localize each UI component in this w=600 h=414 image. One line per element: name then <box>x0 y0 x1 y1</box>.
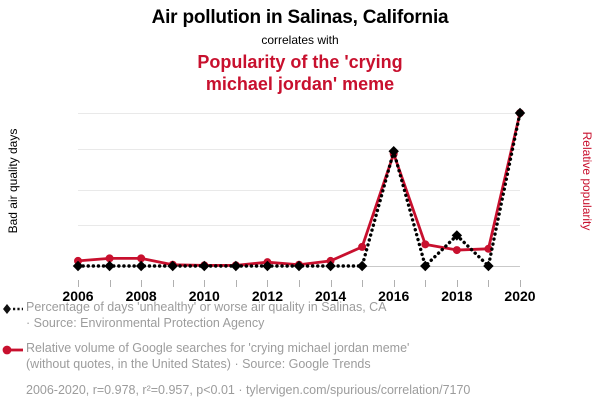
data-point-marker-air-quality <box>294 261 304 271</box>
data-point-marker-air-quality <box>104 261 114 271</box>
data-point-marker-air-quality <box>515 108 525 118</box>
data-point-marker-air-quality <box>231 261 241 271</box>
chart-page: Air pollution in Salinas, California cor… <box>0 0 600 414</box>
data-point-marker-air-quality <box>357 261 367 271</box>
data-point-marker-air-quality <box>420 261 430 271</box>
x-axis-tick-mark <box>425 280 426 287</box>
series-line-air-quality <box>78 113 520 266</box>
legend-label-air-quality-line1: Percentage of days 'unhealthy' or worse … <box>26 300 387 314</box>
x-axis-tick-mark <box>362 280 363 287</box>
black-diamond-dotted-line-icon <box>2 303 24 315</box>
data-point-marker-air-quality <box>136 261 146 271</box>
legend-label-meme-line2: (without quotes, in the United States) ·… <box>26 357 371 371</box>
data-point-marker-meme <box>421 240 429 248</box>
series-line-meme <box>78 113 520 265</box>
x-axis-tick-mark <box>520 280 521 287</box>
page-title: Air pollution in Salinas, California <box>0 6 600 30</box>
x-axis-tick-mark <box>457 280 458 287</box>
red-circle-solid-line-icon <box>2 344 24 356</box>
page-subtitle-line2: michael jordan' meme <box>0 73 600 95</box>
legend-item-air-quality: Percentage of days 'unhealthy' or worse … <box>0 300 600 331</box>
page-subtitle: Popularity of the 'crying michael jordan… <box>0 51 600 95</box>
y-axis-right-title: Relative popularity <box>580 96 594 266</box>
data-point-marker-air-quality <box>168 261 178 271</box>
x-axis-tick-mark <box>141 280 142 287</box>
x-axis-tick-mark <box>173 280 174 287</box>
title-connector: correlates with <box>0 31 600 49</box>
x-axis-tick-mark <box>267 280 268 287</box>
x-axis-tick-mark <box>331 280 332 287</box>
chart-area: Bad air quality days Relative popularity… <box>0 100 600 300</box>
x-axis-tick-mark <box>394 280 395 287</box>
x-axis-tick-mark <box>299 280 300 287</box>
series-layer <box>78 113 520 266</box>
y-axis-left-title: Bad air quality days <box>6 96 20 266</box>
page-subtitle-line1: Popularity of the 'crying <box>0 51 600 73</box>
title-block: Air pollution in Salinas, California cor… <box>0 0 600 95</box>
plot-region: 3.0%2.3%1.5%0.8%0%1296302006200820102012… <box>78 113 520 266</box>
data-point-marker-air-quality <box>483 261 493 271</box>
legend-label-air-quality-line2: · Source: Environmental Protection Agenc… <box>26 316 264 330</box>
data-point-marker-air-quality <box>199 261 209 271</box>
x-axis-tick-mark <box>236 280 237 287</box>
x-axis-tick-mark <box>488 280 489 287</box>
x-axis-tick-mark <box>78 280 79 287</box>
legend: Percentage of days 'unhealthy' or worse … <box>0 300 600 398</box>
x-axis-tick-mark <box>204 280 205 287</box>
footer-source-note: 2006-2020, r=0.978, r²=0.957, p<0.01 · t… <box>0 383 600 398</box>
legend-item-meme: Relative volume of Google searches for '… <box>0 341 600 372</box>
data-point-marker-meme <box>453 246 461 254</box>
x-axis-tick-mark <box>110 280 111 287</box>
legend-label-meme-line1: Relative volume of Google searches for '… <box>26 341 409 355</box>
